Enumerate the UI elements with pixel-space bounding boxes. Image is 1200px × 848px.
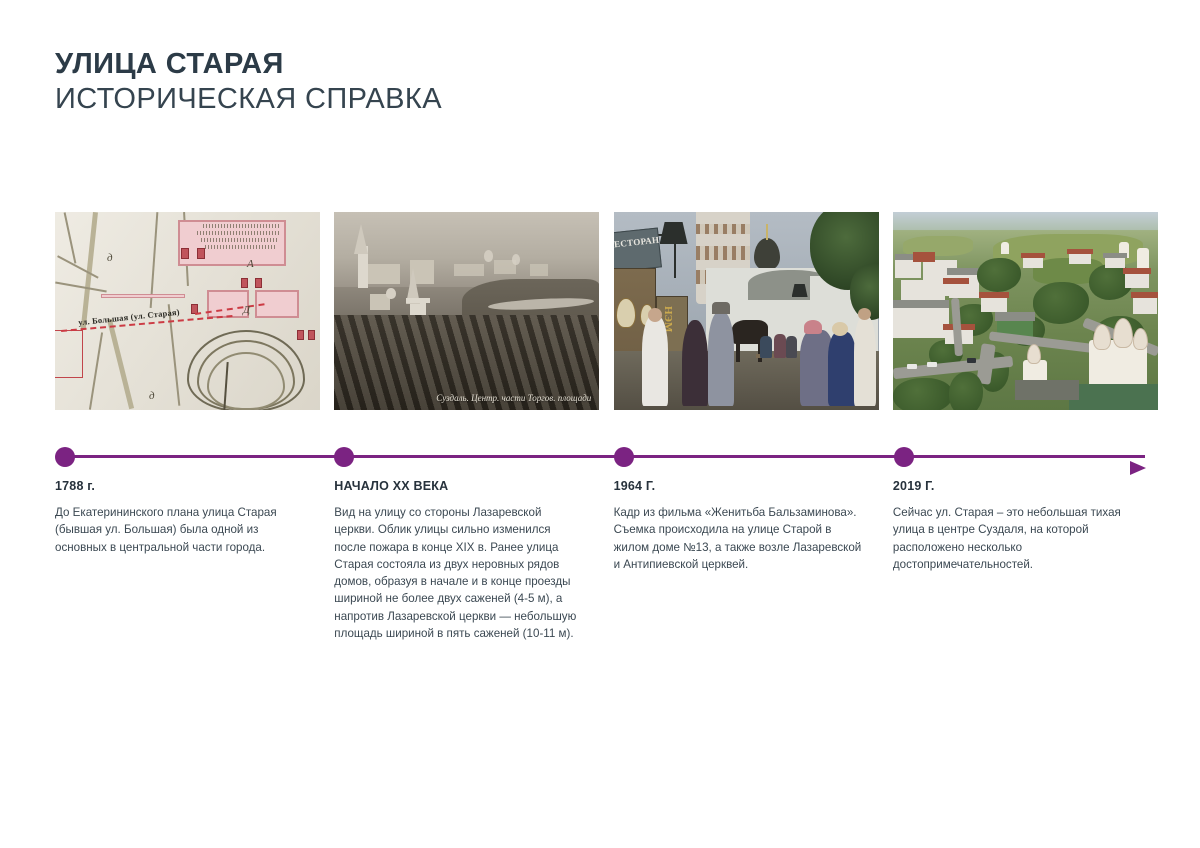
map-paper-scene: ул. Большая (ул. Старая) д д А Д <box>55 212 320 410</box>
entry-text-2019: 2019 Г. Сейчас ул. Старая – это небольша… <box>893 479 1158 642</box>
figure-antique-town-plan: ул. Большая (ул. Старая) д д А Д <box>55 212 320 410</box>
entry-text-1964: 1964 Г. Кадр из фильма «Женитьба Бальзам… <box>614 479 879 642</box>
figure-film-still: ЕСТОРАН НЭМ <box>614 212 879 410</box>
entry-text-1788: 1788 г. До Екатерининского плана улица С… <box>55 479 320 642</box>
page-title: УЛИЦА СТАРАЯ <box>55 48 955 81</box>
aerial-scene <box>893 212 1158 410</box>
page-header: УЛИЦА СТАРАЯ ИСТОРИЧЕСКАЯ СПРАВКА <box>55 48 955 117</box>
timeline-axis-line <box>67 455 1145 458</box>
era-label: 1788 г. <box>55 479 320 494</box>
timeline-column-1788: ул. Большая (ул. Старая) д д А Д <box>55 212 320 410</box>
page-subtitle: ИСТОРИЧЕСКАЯ СПРАВКА <box>55 83 955 117</box>
timeline-arrow-icon <box>1130 461 1146 475</box>
era-description: До Екатерининского плана улица Старая (б… <box>55 504 291 556</box>
figure-aerial-suzdal <box>893 212 1158 410</box>
timeline-column-2019 <box>893 212 1158 410</box>
timeline-dot-2019[interactable] <box>894 447 914 467</box>
image-row: ул. Большая (ул. Старая) д д А Д <box>55 212 1157 410</box>
era-label: 1964 Г. <box>614 479 879 494</box>
timeline-axis <box>55 444 1157 474</box>
era-description: Кадр из фильма «Женитьба Бальзаминова». … <box>614 504 862 573</box>
timeline-dot-1964[interactable] <box>614 447 634 467</box>
era-description: Вид на улицу со стороны Лазаревской церк… <box>334 504 578 642</box>
film-still-scene: ЕСТОРАН НЭМ <box>614 212 879 410</box>
figure-sepia-panorama: Суздаль. Центр. части Торгов. площади <box>334 212 599 410</box>
panorama-handwritten-caption: Суздаль. Центр. части Торгов. площади <box>436 393 591 404</box>
timeline-column-1964: ЕСТОРАН НЭМ <box>614 212 879 410</box>
text-row: 1788 г. До Екатерининского плана улица С… <box>55 479 1157 642</box>
panorama-scene: Суздаль. Центр. части Торгов. площади <box>334 212 599 410</box>
timeline-dot-early-20th[interactable] <box>334 447 354 467</box>
era-label: 2019 Г. <box>893 479 1158 494</box>
era-description: Сейчас ул. Старая – это небольшая тихая … <box>893 504 1125 573</box>
entry-text-early-20th: НАЧАЛО XX ВЕКА Вид на улицу со стороны Л… <box>334 479 599 642</box>
timeline-column-early-20th: Суздаль. Центр. части Торгов. площади <box>334 212 599 410</box>
era-label: НАЧАЛО XX ВЕКА <box>334 479 599 494</box>
timeline-dot-1788[interactable] <box>55 447 75 467</box>
